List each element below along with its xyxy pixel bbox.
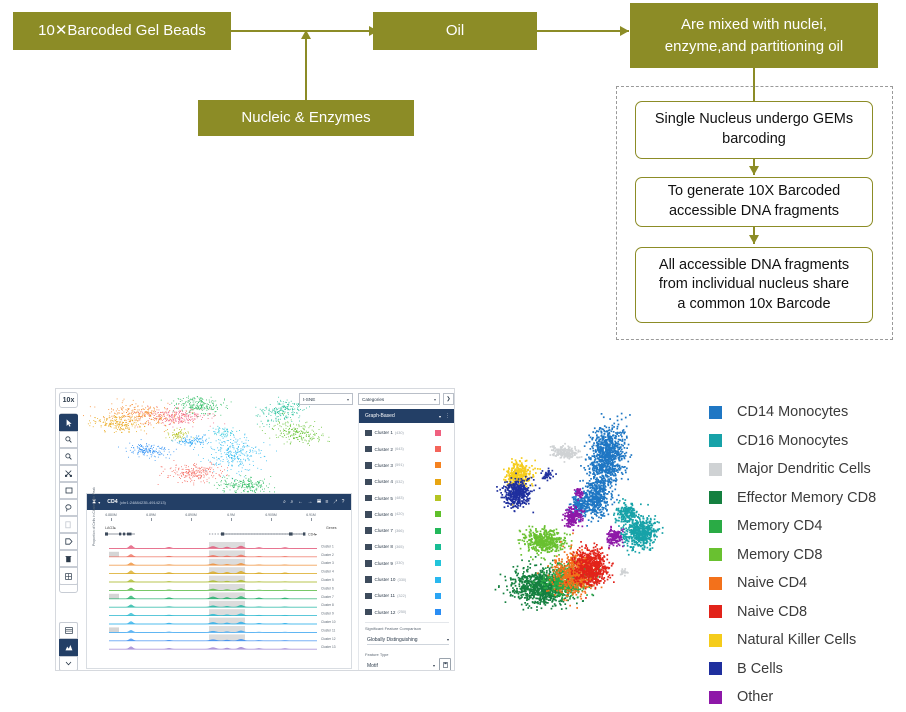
projection-select[interactable]: t-SNE ▾ (299, 393, 353, 405)
cluster-label: Cluster 10 (375, 577, 396, 582)
legend-label: Other (737, 689, 773, 705)
axis-tick-label: 6.905M (265, 513, 276, 517)
axis-tick-mark (271, 518, 272, 521)
lasso-select-icon[interactable] (59, 499, 78, 516)
track-ylabel: Proportion of Cells in Cluster with Peak (92, 426, 96, 546)
legend-label: Natural Killer Cells (737, 632, 856, 648)
track-gene-label: CD4 (107, 499, 117, 505)
projection-select-value: t-SNE (303, 397, 315, 402)
cluster-label: Cluster 7 (375, 528, 393, 533)
cluster-color-swatch[interactable] (435, 462, 441, 468)
box-step-3: All accessible DNA fragments from incliv… (635, 247, 873, 323)
cluster-checkbox[interactable] (365, 576, 372, 583)
legend-swatch (709, 548, 722, 561)
cluster-checkbox[interactable] (365, 511, 372, 518)
legend-item: CD16 Monocytes (709, 427, 876, 456)
cluster-color-swatch[interactable] (435, 593, 441, 599)
cluster-color-swatch[interactable] (435, 495, 441, 501)
gene-model-row: LAG3▸ CD4▸ Genes (105, 525, 341, 539)
legend-label: Memory CD8 (737, 547, 822, 563)
legend-item: Natural Killer Cells (709, 626, 876, 655)
cluster-list-item[interactable]: Cluster 6(420) (359, 507, 455, 523)
chevron-down-icon: ▾ (434, 397, 436, 402)
chevron-down-icon: ▾ (347, 397, 349, 402)
expand-panel-label: ❯ (446, 396, 450, 402)
legend-item: Memory CD8 (709, 541, 876, 570)
legend-item: CD14 Monocytes (709, 398, 876, 427)
cluster-list-item[interactable]: Cluster 10(330) (359, 572, 455, 588)
cluster-color-swatch[interactable] (435, 511, 441, 517)
connector-nucleic-up (305, 30, 307, 100)
axis-tick-mark (151, 518, 152, 521)
cluster-panel[interactable]: Graph-Based ▾ ⋮ Cluster 1(430)Cluster 2(… (358, 409, 455, 671)
legend-item: Naive CD8 (709, 598, 876, 627)
cluster-label: Cluster 9 (375, 561, 393, 566)
cluster-label: Cluster 8 (375, 544, 393, 549)
legend-label: CD16 Monocytes (737, 433, 848, 449)
axis-tick-label: 6.89M (146, 513, 155, 517)
legend-item: Memory CD4 (709, 512, 876, 541)
legend-item: Other (709, 683, 876, 712)
axis-tick-mark (231, 518, 232, 521)
cluster-color-swatch[interactable] (435, 479, 441, 485)
cluster-list-item[interactable]: Cluster 4(532) (359, 474, 455, 490)
arrowhead-step2-step3 (749, 235, 759, 244)
cluster-count: (250) (397, 610, 406, 614)
cluster-checkbox[interactable] (365, 479, 372, 486)
zoom-in-icon[interactable] (59, 431, 78, 448)
cluster-count: (322) (397, 594, 406, 598)
legend-label: Memory CD4 (737, 518, 822, 534)
zoom-out-icon[interactable] (59, 448, 78, 465)
cluster-list-item[interactable]: Cluster 9(330) (359, 555, 455, 571)
cluster-color-swatch[interactable] (435, 544, 441, 550)
legend-label: CD14 Monocytes (737, 404, 848, 420)
box-step-3-line2: from inclividual nucleus share (659, 275, 849, 295)
box-step-2: To generate 10X Barcoded accessible DNA … (635, 177, 873, 227)
legend-item: B Cells (709, 655, 876, 684)
legend-item: Naive CD4 (709, 569, 876, 598)
cluster-checkbox[interactable] (365, 430, 372, 437)
cluster-count: (330) (395, 561, 404, 565)
table-icon[interactable] (59, 622, 78, 639)
cluster-color-swatch[interactable] (435, 560, 441, 566)
cluster-color-swatch[interactable] (435, 446, 441, 452)
cluster-checkbox[interactable] (365, 462, 372, 469)
cluster-label: Cluster 12 (375, 610, 396, 615)
box-step-2-line1: To generate 10X Barcoded (668, 182, 841, 202)
significant-feature-value: Globally Distinguishing (367, 637, 418, 643)
box-mixed-line2: enzyme,and partitioning oil (665, 36, 843, 58)
track-toolbar-icons[interactable]: ⌕ ⌕ ← → ▤ ≡ ↗ ? (283, 499, 346, 505)
chevron-down-icon: ▾ (433, 663, 435, 668)
cluster-label: Cluster 4 (375, 479, 393, 484)
box-mixed-line1: Are mixed with nuclei, (681, 14, 827, 36)
box-gel-beads: 10✕Barcoded Gel Beads (13, 12, 231, 50)
cluster-checkbox[interactable] (365, 593, 372, 600)
arrowhead-nucleic-up (301, 30, 311, 39)
legend-swatch (709, 691, 722, 704)
cluster-color-swatch[interactable] (435, 430, 441, 436)
box-nucleic-enzymes-label: Nucleic & Enzymes (241, 107, 370, 129)
box-oil-label: Oil (446, 20, 464, 42)
legend-label: Effector Memory CD8 (737, 490, 876, 506)
export-icon[interactable] (439, 658, 451, 671)
cluster-count: (430) (395, 431, 404, 435)
categories-select-value: Categories (362, 397, 384, 402)
categories-select[interactable]: Categories ▾ (358, 393, 440, 405)
legend-swatch (709, 463, 722, 476)
axis-tick-mark (311, 518, 312, 521)
box-nucleic-enzymes: Nucleic & Enzymes (198, 100, 414, 136)
axis-tick-label: 6.880M (105, 513, 116, 517)
cluster-group-header[interactable]: Graph-Based ▾ ⋮ (359, 409, 455, 423)
legend-label: B Cells (737, 661, 783, 677)
track-browser-window[interactable]: ⧗ ▾ CD4 (chr1:24884235-4914213) ⌕ ⌕ ← → … (86, 493, 352, 669)
tenx-logo-label: 10x (63, 397, 75, 404)
cluster-checkbox[interactable] (365, 544, 372, 551)
legend-item: Effector Memory CD8 (709, 484, 876, 513)
cluster-list-item[interactable]: Cluster 7(366) (359, 523, 455, 539)
legend-swatch (709, 577, 722, 590)
arrowhead-oil-mixed (620, 26, 629, 36)
cluster-color-swatch[interactable] (435, 528, 441, 534)
cluster-count: (532) (395, 480, 404, 484)
cluster-color-swatch[interactable] (435, 609, 441, 615)
legend-swatch (709, 520, 722, 533)
track-browser-header: ⧗ ▾ CD4 (chr1:24884235-4914213) ⌕ ⌕ ← → … (87, 494, 351, 510)
rectangle-select-icon[interactable] (59, 482, 78, 499)
cluster-group-label: Graph-Based (365, 413, 395, 419)
box-step-1: Single Nucleus undergo GEMs barcoding (635, 101, 873, 159)
legend-swatch (709, 634, 722, 647)
cluster-color-swatch[interactable] (435, 577, 441, 583)
cluster-checkbox[interactable] (365, 446, 372, 453)
legend-label: Naive CD4 (737, 575, 807, 591)
cluster-list-item[interactable]: Cluster 12(250) (359, 604, 455, 620)
cluster-label: Cluster 3 (375, 463, 393, 468)
box-mixed: Are mixed with nuclei, enzyme,and partit… (630, 3, 878, 68)
box-oil: Oil (373, 12, 537, 50)
legend-swatch (709, 605, 722, 618)
chevron-down-icon[interactable]: ▾ (439, 414, 441, 419)
cluster-checkbox[interactable] (365, 495, 372, 502)
ui-tsne-scatter[interactable] (82, 392, 353, 497)
cluster-list-item[interactable]: Cluster 3(591) (359, 458, 455, 474)
more-options-icon[interactable]: ⋮ (445, 413, 450, 419)
panel-divider (365, 622, 449, 623)
connector-oil-mixed (537, 30, 629, 32)
axis-tick-label: 6.9M (227, 513, 235, 517)
feature-type-label: Feature Type (365, 652, 389, 657)
legend-label: Naive CD8 (737, 604, 807, 620)
arrowhead-step1-step2 (749, 166, 759, 175)
feature-type-value: Motif (367, 663, 378, 669)
cluster-count: (365) (395, 545, 404, 549)
significant-feature-label: Significant Feature Comparison (365, 626, 421, 631)
feature-type-select[interactable]: Motif ▾ (367, 661, 435, 671)
cluster-list-item[interactable]: Cluster 11(322) (359, 588, 455, 604)
cluster-label: Cluster 6 (375, 512, 393, 517)
scissors-icon[interactable] (59, 465, 78, 482)
tag-icon[interactable] (59, 533, 78, 550)
legend-label: Major Dendritic Cells (737, 461, 871, 477)
cluster-count: (366) (395, 529, 404, 533)
tsne-scatter-plot (468, 404, 698, 639)
legend-swatch (709, 491, 722, 504)
cell-type-legend: CD14 MonocytesCD16 MonocytesMajor Dendri… (709, 398, 876, 712)
legend-item: Major Dendritic Cells (709, 455, 876, 484)
cluster-label: Cluster 5 (375, 496, 393, 501)
cluster-checkbox[interactable] (365, 560, 372, 567)
axis-tick-mark (191, 518, 192, 521)
box-gel-beads-label: 10✕Barcoded Gel Beads (38, 20, 206, 42)
cluster-label: Cluster 11 (375, 593, 396, 598)
cursor-icon[interactable] (59, 414, 78, 431)
cluster-list-item[interactable]: Cluster 5(483) (359, 490, 455, 506)
cluster-list-item[interactable]: Cluster 8(365) (359, 539, 455, 555)
copy-icon[interactable] (59, 516, 78, 533)
cluster-checkbox[interactable] (365, 527, 372, 534)
cluster-label: Cluster 2 (375, 447, 393, 452)
cluster-count: (420) (395, 512, 404, 516)
chevron-down-icon[interactable] (59, 656, 78, 671)
cluster-list-item[interactable]: Cluster 1(430) (359, 425, 455, 441)
box-step-1-line1: Single Nucleus undergo GEMs (655, 110, 853, 130)
box-step-1-line2: barcoding (722, 130, 786, 150)
cluster-checkbox[interactable] (365, 609, 372, 616)
chevron-down-icon: ▾ (447, 637, 449, 642)
cluster-count: (643) (395, 447, 404, 451)
cluster-count: (330) (397, 578, 406, 582)
legend-swatch (709, 434, 722, 447)
track-locus-label: (chr1:24884235-4914213) (120, 500, 166, 505)
loupe-browser-screenshot[interactable]: 10x t-SNE ▾ (55, 388, 455, 671)
axis-tick-mark (111, 518, 112, 521)
tenx-logo[interactable]: 10x (59, 392, 78, 408)
cluster-count: (483) (395, 496, 404, 500)
track-rows: Cluster 1Cluster 2Cluster 3Cluster 4Clus… (103, 540, 347, 666)
grid-icon[interactable] (59, 567, 78, 585)
box-step-3-line1: All accessible DNA fragments (659, 256, 849, 276)
cluster-label: Cluster 1 (375, 430, 393, 435)
cluster-list-item[interactable]: Cluster 2(643) (359, 441, 455, 457)
cluster-count: (591) (395, 463, 404, 467)
legend-swatch (709, 406, 722, 419)
trash-icon[interactable] (59, 550, 78, 567)
axis-tick-label: 6.890M (185, 513, 196, 517)
box-step-3-line3: a common 10x Barcode (677, 295, 830, 315)
box-step-2-line2: accessible DNA fragments (669, 202, 839, 222)
axis-tick-label: 6.91M (306, 513, 315, 517)
significant-feature-select[interactable]: Globally Distinguishing ▾ (367, 635, 449, 645)
chevron-down-icon[interactable]: ▾ (98, 500, 100, 505)
chart-icon[interactable] (59, 639, 78, 656)
expand-panel-button[interactable]: ❯ (443, 393, 454, 405)
legend-swatch (709, 662, 722, 675)
track-axis-ticks: 6.880M6.89M6.890M6.9M6.905M6.91M (87, 513, 351, 525)
